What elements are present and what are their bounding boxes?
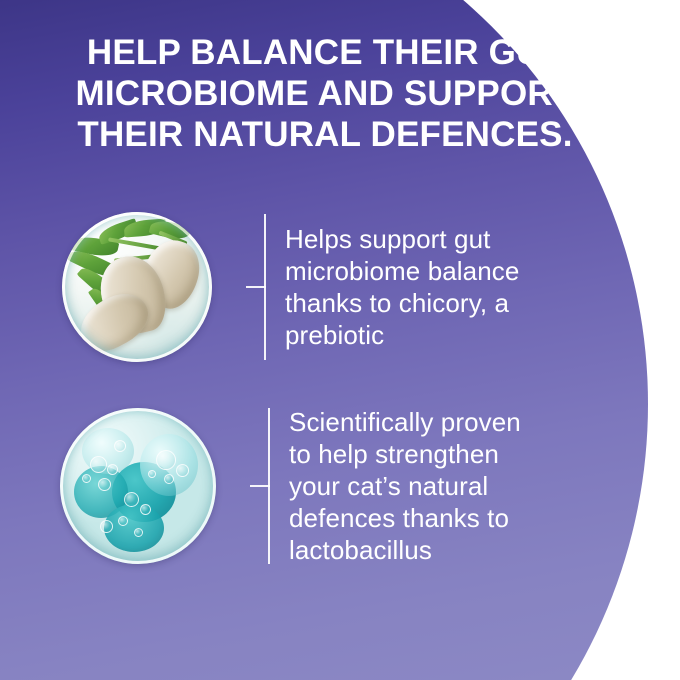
bubble-icon (124, 492, 139, 507)
headline-line-1: HELP BALANCE THEIR GUT (40, 32, 610, 73)
benefit-text-line: lactobacillus (289, 534, 559, 566)
petri-dish-culture-icon (60, 408, 216, 564)
bubble-icon (90, 456, 107, 473)
bubble-icon (98, 478, 111, 491)
benefit-text-line: your cat’s natural (289, 470, 559, 502)
benefit-text-line: Scientifically proven (289, 406, 559, 438)
headline-line-3: THEIR NATURAL DEFENCES. (40, 114, 610, 155)
bubble-icon (148, 470, 156, 478)
bubble-icon (100, 520, 113, 533)
connector-tick-line (250, 485, 270, 487)
petri-dish-chicory-icon (62, 212, 212, 362)
bubble-icon (134, 528, 143, 537)
bubble-icon (118, 516, 128, 526)
benefit-text-line: thanks to chicory, a (285, 287, 555, 319)
benefit-text-line: defences thanks to (289, 502, 559, 534)
connector-tick-line (246, 286, 266, 288)
culture-blob (104, 504, 164, 552)
benefit-text-line: prebiotic (285, 319, 555, 351)
bubble-icon (156, 450, 176, 470)
benefit-description-lactobacillus: Scientifically proven to help strengthen… (289, 406, 559, 566)
benefit-description-chicory: Helps support gut microbiome balance tha… (285, 223, 555, 351)
benefit-connector-bracket (240, 214, 266, 360)
petri-dish-chicory-root (62, 212, 212, 362)
benefit-item-chicory: Helps support gut microbiome balance tha… (62, 212, 555, 362)
headline-line-2: MICROBIOME AND SUPPORT (40, 73, 610, 114)
bubble-icon (176, 464, 189, 477)
bubble-icon (114, 440, 126, 452)
bubble-icon (107, 464, 118, 475)
bubble-icon (82, 474, 91, 483)
benefit-item-lactobacillus: Scientifically proven to help strengthen… (60, 406, 559, 566)
petri-dish-lactobacillus-culture (60, 408, 216, 564)
benefit-text-line: microbiome balance (285, 255, 555, 287)
benefit-text-line: Helps support gut (285, 223, 555, 255)
benefit-connector-bracket (244, 408, 270, 564)
bubble-icon (164, 474, 174, 484)
benefit-text-line: to help strengthen (289, 438, 559, 470)
bubble-icon (140, 504, 151, 515)
page-title: HELP BALANCE THEIR GUT MICROBIOME AND SU… (40, 32, 610, 155)
promo-panel: HELP BALANCE THEIR GUT MICROBIOME AND SU… (0, 0, 680, 680)
